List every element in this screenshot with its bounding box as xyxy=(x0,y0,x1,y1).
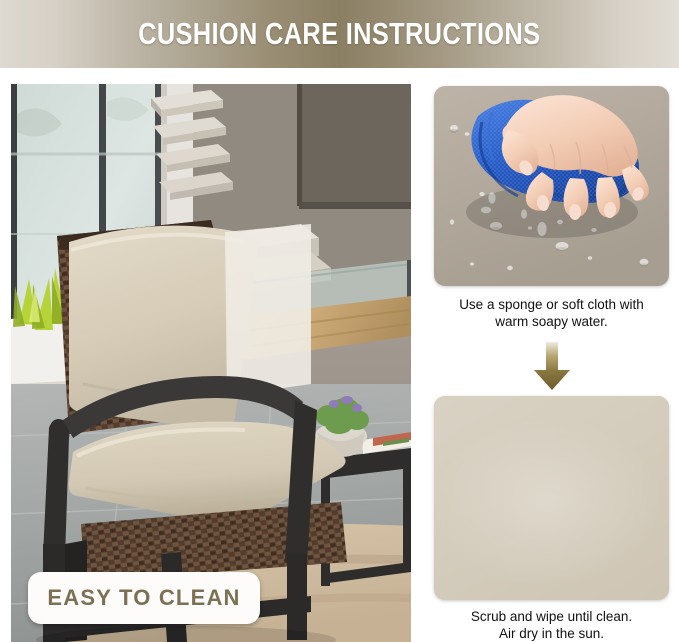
step-2-caption-line-2: Air dry in the sun. xyxy=(434,625,669,642)
wiping-cloth-illustration xyxy=(434,86,669,286)
patio-scene-illustration xyxy=(11,84,411,642)
easy-to-clean-label: EASY TO CLEAN xyxy=(47,585,240,611)
step-2-caption-line-1: Scrub and wipe until clean. xyxy=(434,608,669,625)
step-2-image xyxy=(434,396,669,600)
step-2-caption: Scrub and wipe until clean. Air dry in t… xyxy=(434,608,669,642)
care-steps-column: Use a sponge or soft cloth with warm soa… xyxy=(434,84,669,642)
step-1-image xyxy=(434,86,669,286)
clean-cushion-surface xyxy=(434,396,669,600)
down-arrow-icon xyxy=(530,342,574,390)
easy-to-clean-badge: EASY TO CLEAN xyxy=(28,572,260,624)
step-1-caption-line-2: warm soapy water. xyxy=(434,313,669,330)
page-title: CUSHION CARE INSTRUCTIONS xyxy=(138,16,540,52)
step-1-caption-line-1: Use a sponge or soft cloth with xyxy=(434,296,669,313)
step-1-caption: Use a sponge or soft cloth with warm soa… xyxy=(434,296,669,330)
main-product-photo xyxy=(11,84,411,642)
header-banner: CUSHION CARE INSTRUCTIONS xyxy=(0,0,679,68)
